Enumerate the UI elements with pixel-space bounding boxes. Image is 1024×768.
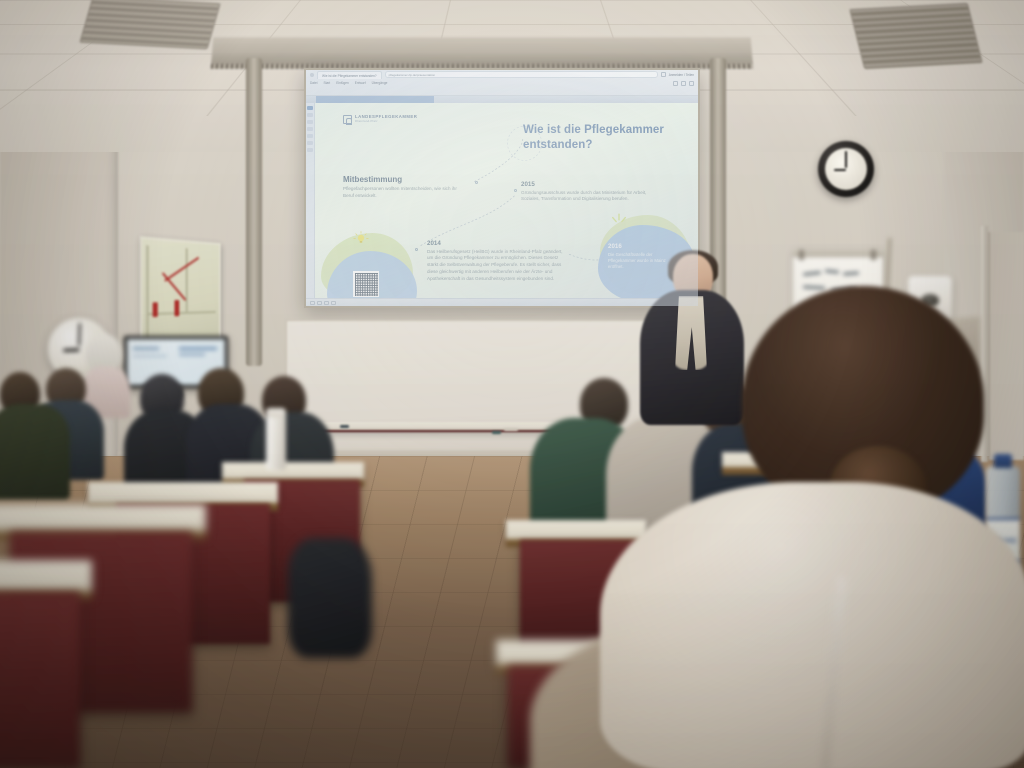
desk-panel — [0, 592, 80, 768]
slide-block-2014: 2014 Das Heilberufsgesetz (HeilBG) wurde… — [427, 240, 567, 283]
timeline-node — [475, 181, 478, 184]
qr-code[interactable] — [353, 271, 379, 297]
menu-item-start[interactable]: Start — [323, 81, 330, 85]
block-heading: 2015 — [521, 181, 663, 188]
block-body: Pflegefachpersonen wollten mitentscheide… — [343, 186, 469, 200]
thermos-flask[interactable] — [266, 408, 286, 470]
ceiling-light-beam — [211, 37, 754, 69]
evacuation-plan-poster — [140, 236, 221, 351]
slide-thumbnail[interactable] — [307, 113, 313, 117]
screen-roller-left — [246, 58, 262, 366]
menu-item-uebergaenge[interactable]: Übergänge — [372, 81, 388, 85]
logo-line-2: Rheinland-Pfalz — [355, 120, 417, 123]
slide-block-2015: 2015 Gründungsausschuss wurde durch das … — [521, 181, 663, 203]
desk — [88, 482, 278, 504]
backpack — [288, 538, 372, 658]
slide-thumbnail[interactable] — [307, 106, 313, 110]
normal-view-icon[interactable] — [310, 301, 315, 305]
handwriting-stroke — [803, 271, 821, 276]
clock-minute-hand — [78, 323, 81, 346]
timeline-node — [415, 248, 418, 251]
classroom-scene: Wie ist die Pflegekammer entstanden? pfl… — [0, 0, 1024, 768]
projection-screen: Wie ist die Pflegekammer entstanden? pfl… — [304, 68, 700, 308]
projection-surface: Wie ist die Pflegekammer entstanden? pfl… — [306, 70, 698, 306]
ribbon-selection-highlight — [316, 96, 434, 103]
flipchart-clip — [799, 250, 804, 260]
clock-minute-hand — [845, 151, 846, 168]
share-icon[interactable] — [661, 72, 666, 77]
wall-clock-right — [818, 141, 874, 197]
menu-item-entwurf[interactable]: Entwurf — [355, 81, 366, 85]
slide-title: Wie ist die Pflegekammer entstanden? — [523, 123, 695, 154]
account-label[interactable]: Anmelden / Teilen — [669, 73, 694, 77]
foreground-hoodie — [600, 482, 1024, 768]
refresh-icon[interactable] — [673, 81, 678, 86]
sorter-icon[interactable] — [317, 301, 322, 305]
audience-person — [0, 404, 70, 500]
fit-icon[interactable] — [689, 81, 694, 86]
slide-thumbnail[interactable] — [307, 148, 313, 152]
address-bar[interactable]: pflegekammer-rlp.de/praesentation — [385, 71, 658, 78]
browser-tab[interactable]: Wie ist die Pflegekammer entstanden? — [317, 71, 382, 79]
foreground-student — [530, 286, 1024, 768]
flipchart-bar — [793, 250, 883, 257]
slideshow-icon[interactable] — [331, 301, 336, 305]
more-icon[interactable] — [681, 81, 686, 86]
pflegekammer-logo: LANDESPFLEGEKAMMER Rheinland-Pfalz — [343, 115, 417, 124]
sparkle-icon — [610, 213, 628, 229]
desk — [0, 504, 206, 532]
handwriting-stroke — [825, 269, 839, 273]
window-control-icon[interactable] — [310, 73, 314, 77]
desk — [222, 462, 364, 480]
block-heading: Mitbestimmung — [343, 175, 469, 184]
qr-code-pattern — [355, 273, 378, 296]
lightbulb-icon — [353, 231, 369, 247]
menu-item-einfuegen[interactable]: Einfügen — [336, 81, 349, 85]
clock-hour-hand — [834, 169, 846, 171]
timeline-node — [514, 189, 517, 192]
marker[interactable] — [492, 431, 501, 434]
marker[interactable] — [340, 425, 349, 428]
clock-face — [825, 148, 867, 190]
slide-thumbnail[interactable] — [307, 141, 313, 145]
menu-item-datei[interactable]: Datei — [310, 81, 317, 85]
clock-hour-hand — [63, 349, 79, 352]
front-table — [316, 422, 564, 432]
block-heading: 2014 — [427, 240, 567, 247]
block-body: Das Heilberufsgesetz (HeilBG) wurde in R… — [427, 249, 567, 283]
ceiling-vent-right — [849, 3, 982, 69]
chamber-mark-icon — [343, 115, 352, 124]
block-body: Gründungsausschuss wurde durch das Minis… — [521, 190, 663, 204]
slide-thumbnail[interactable] — [307, 120, 313, 124]
handwriting-stroke — [843, 271, 859, 275]
ceiling-vent-left — [79, 0, 220, 49]
block-heading: 2016 — [608, 243, 680, 250]
slide-thumbnail-rail[interactable] — [306, 103, 315, 298]
slide-thumbnail[interactable] — [307, 127, 313, 131]
reading-view-icon[interactable] — [324, 301, 329, 305]
slide-thumbnail[interactable] — [307, 134, 313, 138]
eraser[interactable] — [504, 428, 518, 431]
app-chrome: Wie ist die Pflegekammer entstanden? pfl… — [306, 70, 698, 96]
slide-canvas: LANDESPFLEGEKAMMER Rheinland-Pfalz Wie i… — [315, 103, 698, 298]
flipchart-clip — [871, 250, 876, 260]
slide-block-mitbestimmung: Mitbestimmung Pflegefachpersonen wollten… — [343, 175, 469, 200]
desk — [0, 560, 92, 592]
